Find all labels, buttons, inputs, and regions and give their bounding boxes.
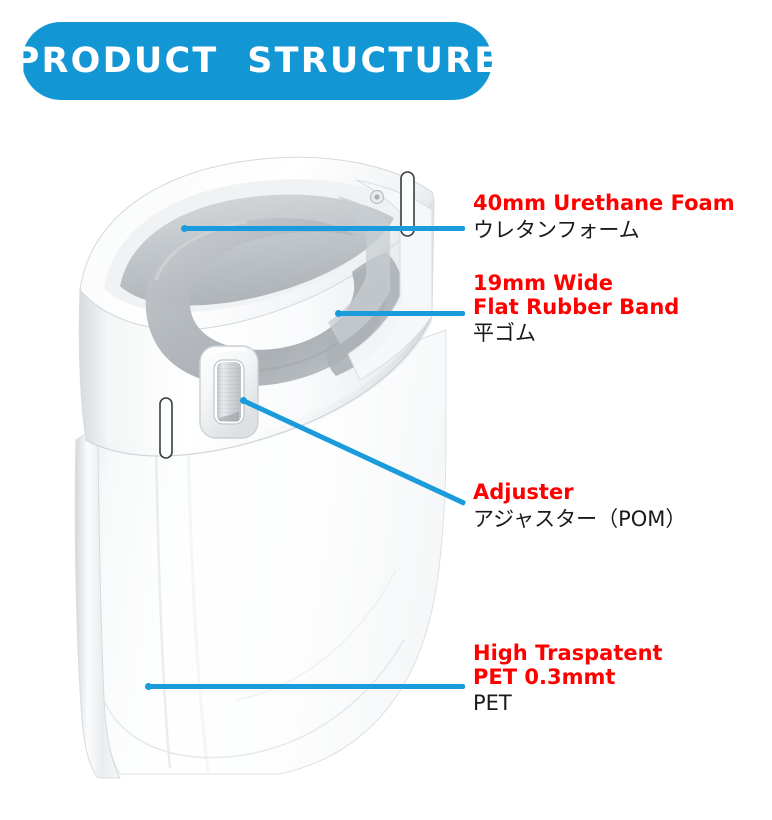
callout-pet: High Traspatent PET 0.3mmt PET	[473, 642, 663, 717]
callout-urethane-foam: 40mm Urethane Foam ウレタンフォーム	[473, 192, 735, 243]
callout-rubber-band-jp: 平ゴム	[473, 320, 679, 347]
leader-line-pet	[148, 684, 465, 689]
callout-pet-jp: PET	[473, 690, 663, 717]
product-structure-page: PRODUCT STRUCTURE	[0, 0, 772, 820]
leader-anchor-adjuster	[240, 397, 247, 404]
title-banner: PRODUCT STRUCTURE	[22, 22, 492, 100]
leader-line-urethane-foam	[184, 226, 465, 231]
page-title: PRODUCT STRUCTURE	[14, 41, 501, 81]
leader-anchor-urethane-foam	[181, 225, 188, 232]
callout-adjuster-en: Adjuster	[473, 481, 686, 505]
adjuster-buckle	[200, 346, 258, 438]
callout-adjuster-jp: アジャスター（POM）	[473, 506, 686, 533]
callout-urethane-foam-jp: ウレタンフォーム	[473, 217, 735, 244]
callout-rubber-band: 19mm Wide Flat Rubber Band 平ゴム	[473, 272, 679, 347]
leader-anchor-rubber-band	[335, 310, 342, 317]
callout-rubber-band-en: 19mm Wide Flat Rubber Band	[473, 272, 679, 319]
leader-anchor-pet	[145, 683, 152, 690]
callout-adjuster: Adjuster アジャスター（POM）	[473, 481, 686, 532]
callout-pet-en: High Traspatent PET 0.3mmt	[473, 642, 663, 689]
leader-line-rubber-band	[338, 311, 465, 316]
strap-slot-left	[160, 398, 172, 458]
callout-urethane-foam-en: 40mm Urethane Foam	[473, 192, 735, 216]
